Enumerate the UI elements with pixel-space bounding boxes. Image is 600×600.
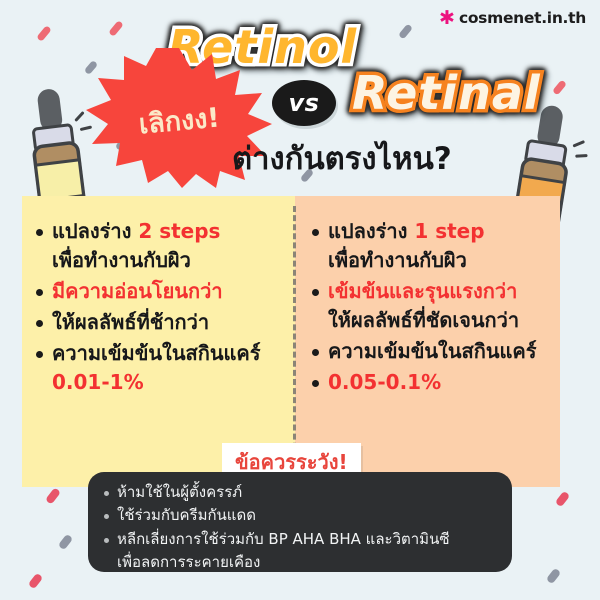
bullet-text: 0.05-0.1% [328,369,441,396]
list-item: 0.05-0.1% [312,369,562,396]
warning-text: หลีกเลี่ยงการใช้ร่วมกับ BP AHA BHA และวิ… [117,529,450,550]
bullet-highlight: 2 steps [138,219,220,243]
bullet-dot-icon [36,320,43,327]
list-item: ความเข้มข้นในสกินแคร์ [312,338,562,365]
bullet-dot-icon [36,351,43,358]
versus-badge: vs [272,80,336,126]
warning-text-continuation: เพื่อลดการระคายเคือง [117,552,500,573]
bullet-subtext: ให้ผลลัพธ์ที่ชัดเจนกว่า [328,307,562,334]
list-item: หลีกเลี่ยงการใช้ร่วมกับ BP AHA BHA และวิ… [104,529,500,550]
bullet-dot-icon [312,229,319,236]
bullet-text: ให้ผลลัพธ์ที่ช้ากว่า [52,309,209,336]
bullet-text: ความเข้มข้นในสกินแคร์ [328,338,537,365]
bullet-subtext: เพื่อทำงานกับผิว [52,247,294,274]
bullet-dot-icon [312,349,319,356]
list-item: ให้ผลลัพธ์ที่ช้ากว่า [36,309,294,336]
list-item: ความเข้มข้นในสกินแคร์ [36,340,294,367]
infographic-canvas: ✱ cosmenet.in.th Retinol [0,0,600,600]
confetti-dash [546,568,562,585]
warning-label-text: ข้อควรระวัง! [235,450,348,474]
list-item: แปลงร่าง 2 steps [36,218,294,245]
bullet-dot-icon [36,289,43,296]
warning-box: ห้ามใช้ในผู้ตั้งครรภ์ ใช้ร่วมกับครีมกันแ… [88,472,512,572]
bullet-text: แปลงร่าง 2 steps [52,218,220,245]
bullet-text: แปลงร่าง 1 step [328,218,485,245]
bullet-list-retinol: แปลงร่าง 2 steps เพื่อทำงานกับผิว มีความ… [36,218,294,400]
list-item: ใช้ร่วมกับครีมกันแดด [104,505,500,526]
headline-group: Retinol เลิกงง! vs Retinal ต่างกันตรงไหน… [0,0,600,200]
versus-label: vs [289,89,320,117]
bullet-text: ความเข้มข้นในสกินแคร์ [52,340,261,367]
bullet-dot-icon [312,289,319,296]
bullet-list-retinal: แปลงร่าง 1 step เพื่อทำงานกับผิว เข้มข้น… [312,218,562,398]
list-item: เข้มข้นและรุนแรงกว่า [312,278,562,305]
bullet-highlight: 1 step [414,219,484,243]
bullet-dot-icon [312,380,319,387]
headline-subtitle: ต่างกันตรงไหน? [232,133,452,183]
title-retinal: Retinal [352,66,541,120]
warning-text: ใช้ร่วมกับครีมกันแดด [117,505,256,526]
list-item: แปลงร่าง 1 step [312,218,562,245]
list-item: มีความอ่อนโยนกว่า [36,278,294,305]
bullet-dot-icon [104,491,109,496]
confetti-dash [58,534,74,551]
list-item: ห้ามใช้ในผู้ตั้งครรภ์ [104,482,500,503]
confetti-dash [45,487,61,505]
confetti-dash [555,491,571,508]
bullet-dot-icon [104,538,109,543]
confetti-dash [28,573,44,590]
bullet-subtext: เพื่อทำงานกับผิว [328,247,562,274]
bullet-dot-icon [36,229,43,236]
bullet-text: มีความอ่อนโยนกว่า [52,278,223,305]
bullet-text: เข้มข้นและรุนแรงกว่า [328,278,517,305]
bullet-subtext: 0.01-1% [52,369,294,396]
bullet-dot-icon [104,514,109,519]
warning-list: ห้ามใช้ในผู้ตั้งครรภ์ ใช้ร่วมกับครีมกันแ… [104,482,500,573]
warning-text: ห้ามใช้ในผู้ตั้งครรภ์ [117,482,242,503]
